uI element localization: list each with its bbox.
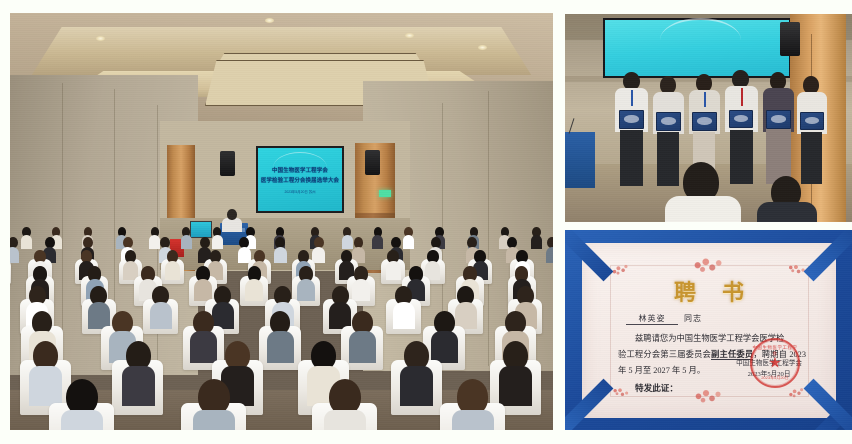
foreground-audience-body [665,196,741,222]
downlight-icon [478,45,487,50]
lanyard-icon [741,88,743,106]
certificate-paper: 聘书 林英姿同志 兹聘请您为中国生物医学工程学会医学检 验工程分会第三届委员会副… [582,243,836,418]
audience-body [400,366,433,406]
audience-member [349,311,376,364]
audience-member [452,379,494,430]
audience-body [190,331,217,363]
audience-body [194,279,212,301]
official-seal: 中国生物医学工程学会 ★ 2023年5月20日 [750,338,800,388]
audience-member [372,227,383,250]
frame-corner-overlay [747,413,842,430]
exit-indicator-icon [379,190,391,197]
audience-member [403,227,414,250]
audience-body [386,261,401,279]
audience-member [21,227,32,250]
screen-arc-decoration [660,18,741,40]
wall-speaker-left-icon [220,151,235,176]
floral-ornament-bottom [690,388,728,406]
audience-member [10,237,19,264]
audience-member [123,250,138,280]
audience-member [393,286,415,330]
audience-body [274,247,287,263]
audience-body [425,261,440,279]
certificate-folder [692,112,717,131]
audience-body [372,235,383,249]
wall-speaker-right-icon [365,150,380,175]
audience-body [193,410,235,430]
audience-member [238,237,251,264]
audience-body [342,235,353,249]
audience-member [312,237,325,264]
audience-member [165,250,180,280]
foreground-audience-body [757,202,817,222]
awardee-legs [620,130,643,186]
audience-body [297,279,315,301]
conference-hall-photo: 中国生物医学工程学会 医学检验工程分会换届选举大会 2023年5月20日 苏州 [10,13,553,430]
audience-body [312,247,325,263]
audience-body [352,279,370,301]
audience-member [245,266,263,302]
chair [10,259,11,284]
lanyard-icon [704,92,706,107]
audience-member [274,237,287,264]
audience-member [150,286,172,330]
appointment-certificate-photo: 聘书 林英姿同志 兹聘请您为中国生物医学工程学会医学检 验工程分会第三届委员会副… [565,230,852,430]
audience-member [455,286,477,330]
audience-member [181,227,192,250]
body-line2-pre: 验工程分会第三届委员会 [618,350,711,359]
audience-member [342,227,353,250]
audience-body [455,302,477,328]
audience-body [122,366,155,406]
audience-member [297,266,315,302]
certificate-blue-frame: 聘书 林英姿同志 兹聘请您为中国生物医学工程学会医学检 验工程分会第三届委员会副… [565,230,852,430]
photo-collage: 中国生物医学工程学会 医学检验工程分会换届选举大会 2023年5月20日 苏州 [0,0,852,444]
presenter-head [227,209,237,220]
audience-body [403,235,414,249]
audience-member [400,341,433,408]
audience-body [165,261,180,279]
audience-body [212,235,223,249]
audience-member [267,311,294,364]
audience-body [29,366,62,406]
projection-screen: 中国生物医学工程学会 医学检验工程分会换届选举大会 2023年5月20日 苏州 [256,146,344,213]
audience-body [393,302,415,328]
audience-member [324,379,366,430]
audience-body [245,279,263,301]
recipient-name: 林英姿 [626,313,678,325]
audience-body [61,410,103,430]
audience-member [386,250,401,280]
audience-body [88,302,110,328]
slide-arc-decoration [273,152,327,168]
certificate-folder [766,110,791,129]
certificate-folder [800,112,824,130]
seal-star-icon: ★ [768,356,781,371]
recipient-suffix: 同志 [684,314,702,323]
audience-member [425,250,440,280]
audience-member [531,227,542,250]
awardee-legs [730,130,753,184]
certificate-folder [619,110,644,129]
audience-body [150,302,172,328]
stage-speaker-icon [780,22,800,56]
audience-member [194,266,212,302]
audience-body [531,235,542,249]
audience-body [21,235,32,249]
audience-member [212,227,223,250]
audience-body [499,366,532,406]
audience-member [88,286,110,330]
audience-member [190,311,217,364]
presenter-body [222,218,242,232]
audience-body [10,247,19,263]
audience-member [61,379,103,430]
lanyard-icon [631,90,633,106]
stage-podium [565,132,595,188]
audience-body [452,410,494,430]
certificate-folder [656,112,681,131]
audience-body [267,331,294,363]
audience-body [349,331,376,363]
audience-member [29,341,62,408]
awardee-legs [657,132,679,186]
certificate-title: 聘书 [582,275,836,307]
audience-member [193,379,235,430]
downlight-icon [265,18,274,23]
seal-date-text: 2023年5月20日 [752,375,798,381]
slide-subtitle: 2023年5月20日 苏州 [284,189,315,194]
certificate-folder [729,110,753,128]
downlight-icon [405,33,414,38]
hall-scene: 中国生物医学工程学会 医学检验工程分会换届选举大会 2023年5月20日 苏州 [10,13,553,430]
audience-body [431,331,458,363]
floral-ornament-top [689,257,730,276]
audience-member [352,266,370,302]
award-group-photo [565,14,852,222]
slide-title-line2: 医学检验工程分会换届选举大会 [261,176,339,184]
certificate-issue-note: 特发此证： [618,382,678,394]
awardee-legs [801,132,822,184]
audience-member [431,311,458,364]
stage-projection-screen [603,18,791,78]
audience-member [122,341,155,408]
audience-member [546,237,553,264]
audience-member [499,341,532,408]
audience-body [238,247,251,263]
certificate-recipient-row: 林英姿同志 [626,313,702,325]
audience-body [546,247,553,263]
downlight-icon [96,36,105,41]
audience-body [324,410,366,430]
audience-body [181,235,192,249]
